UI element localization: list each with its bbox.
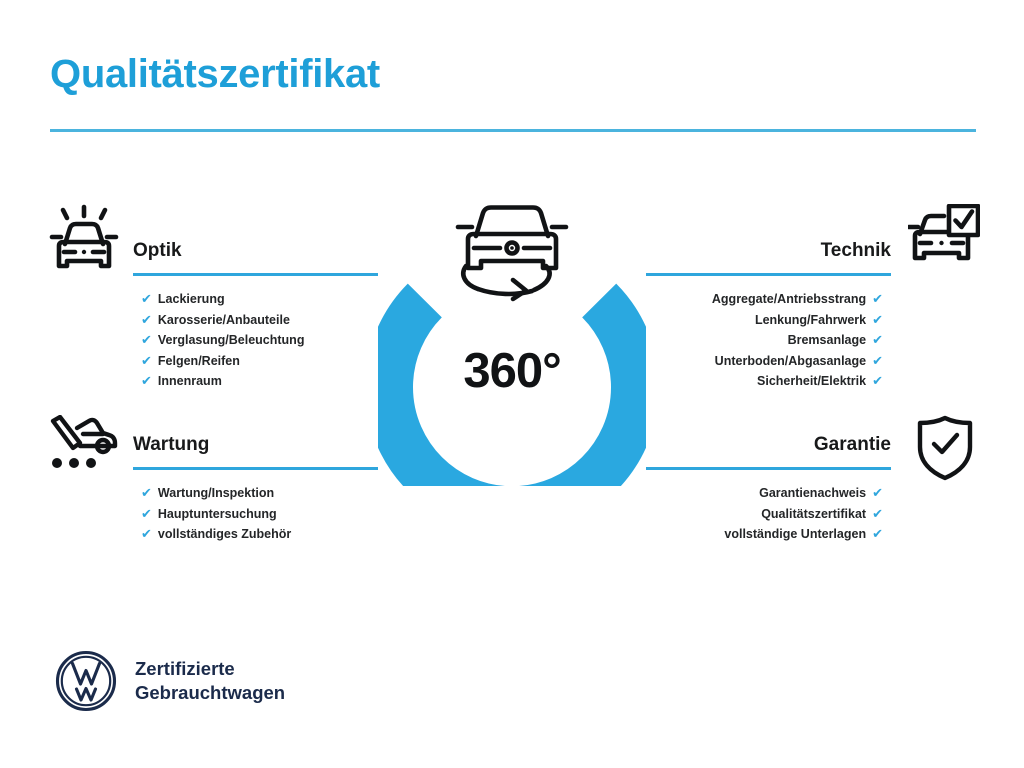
- section-divider: [133, 467, 378, 470]
- footer-text-block: Zertifizierte Gebrauchtwagen: [135, 657, 285, 705]
- list-item-label: Hauptuntersuchung: [158, 505, 277, 525]
- checklist-optik: ✔Lackierung ✔Karosserie/Anbauteile ✔Verg…: [133, 289, 378, 392]
- list-item-label: Lenkung/Fahrwerk: [755, 311, 866, 331]
- list-item: Sicherheit/Elektrik✔: [646, 371, 883, 392]
- list-item-label: Garantienachweis: [759, 484, 866, 504]
- checklist-wartung: ✔Wartung/Inspektion ✔Hauptuntersuchung ✔…: [133, 483, 378, 545]
- check-icon: ✔: [141, 351, 152, 371]
- section-header: Wartung: [133, 432, 378, 470]
- car-checkbox-icon: [908, 204, 980, 272]
- badge-value: 360°: [378, 344, 646, 398]
- title-divider: [50, 129, 976, 132]
- check-icon: ✔: [141, 504, 152, 524]
- car-lift-service-icon: [47, 415, 121, 475]
- vw-logo: [55, 650, 117, 712]
- list-item: Unterboden/Abgasanlage✔: [646, 351, 883, 372]
- section-optik: Optik ✔Lackierung ✔Karosserie/Anbauteile…: [133, 238, 378, 392]
- check-icon: ✔: [141, 483, 152, 503]
- section-divider: [646, 467, 891, 470]
- list-item: ✔Lackierung: [141, 289, 378, 310]
- list-item: Aggregate/Antriebsstrang✔: [646, 289, 883, 310]
- check-icon: ✔: [872, 310, 883, 330]
- list-item-label: vollständige Unterlagen: [724, 525, 866, 545]
- list-item: ✔vollständiges Zubehör: [141, 524, 378, 545]
- section-technik: Technik Aggregate/Antriebsstrang✔ Lenkun…: [646, 238, 891, 392]
- check-icon: ✔: [872, 371, 883, 391]
- list-item: Garantienachweis✔: [646, 483, 883, 504]
- list-item-label: Bremsanlage: [788, 331, 867, 351]
- shield-check-icon: [915, 415, 975, 481]
- list-item-label: Lackierung: [158, 290, 225, 310]
- list-item: ✔Karosserie/Anbauteile: [141, 310, 378, 331]
- section-header: Optik: [133, 238, 378, 276]
- section-wartung: Wartung ✔Wartung/Inspektion ✔Hauptunters…: [133, 432, 378, 545]
- list-item-label: Unterboden/Abgasanlage: [715, 352, 866, 372]
- checklist-garantie: Garantienachweis✔ Qualitätszertifikat✔ v…: [646, 483, 891, 545]
- list-item: ✔Felgen/Reifen: [141, 351, 378, 372]
- section-header: Technik: [646, 238, 891, 276]
- car-rotation-icon: [450, 196, 574, 304]
- list-item: Qualitätszertifikat✔: [646, 504, 883, 525]
- list-item-label: Innenraum: [158, 372, 222, 392]
- checklist-technik: Aggregate/Antriebsstrang✔ Lenkung/Fahrwe…: [646, 289, 891, 392]
- list-item-label: Verglasung/Beleuchtung: [158, 331, 305, 351]
- section-title: Wartung: [133, 432, 378, 458]
- check-icon: ✔: [141, 524, 152, 544]
- list-item-label: Karosserie/Anbauteile: [158, 311, 290, 331]
- list-item: ✔Wartung/Inspektion: [141, 483, 378, 504]
- list-item: vollständige Unterlagen✔: [646, 524, 883, 545]
- list-item-label: Qualitätszertifikat: [761, 505, 866, 525]
- car-shine-icon: [47, 204, 121, 280]
- check-icon: ✔: [872, 330, 883, 350]
- list-item-label: vollständiges Zubehör: [158, 525, 291, 545]
- footer-line-1: Zertifizierte: [135, 657, 285, 681]
- section-garantie: Garantie Garantienachweis✔ Qualitätszert…: [646, 432, 891, 545]
- list-item-label: Wartung/Inspektion: [158, 484, 274, 504]
- list-item-label: Felgen/Reifen: [158, 352, 240, 372]
- footer-brand: Zertifizierte Gebrauchtwagen: [55, 650, 285, 712]
- footer-line-2: Gebrauchtwagen: [135, 681, 285, 705]
- check-icon: ✔: [141, 310, 152, 330]
- check-icon: ✔: [872, 351, 883, 371]
- list-item-label: Aggregate/Antriebsstrang: [712, 290, 866, 310]
- badge-360-gebrauchtwagen-check: Gebrauchtwagen-Check 360°: [378, 196, 646, 486]
- section-title: Optik: [133, 238, 378, 264]
- check-icon: ✔: [141, 289, 152, 309]
- check-icon: ✔: [141, 371, 152, 391]
- check-icon: ✔: [141, 330, 152, 350]
- list-item: ✔Hauptuntersuchung: [141, 504, 378, 525]
- list-item: ✔Innenraum: [141, 371, 378, 392]
- list-item: ✔Verglasung/Beleuchtung: [141, 330, 378, 351]
- section-divider: [133, 273, 378, 276]
- check-icon: ✔: [872, 483, 883, 503]
- page-title: Qualitätszertifikat: [50, 50, 380, 98]
- section-title: Garantie: [646, 432, 891, 458]
- section-title: Technik: [646, 238, 891, 264]
- check-icon: ✔: [872, 504, 883, 524]
- section-divider: [646, 273, 891, 276]
- section-header: Garantie: [646, 432, 891, 470]
- check-icon: ✔: [872, 524, 883, 544]
- certificate-page: Qualitätszertifikat: [0, 0, 1024, 768]
- list-item: Lenkung/Fahrwerk✔: [646, 310, 883, 331]
- list-item: Bremsanlage✔: [646, 330, 883, 351]
- check-icon: ✔: [872, 289, 883, 309]
- list-item-label: Sicherheit/Elektrik: [757, 372, 866, 392]
